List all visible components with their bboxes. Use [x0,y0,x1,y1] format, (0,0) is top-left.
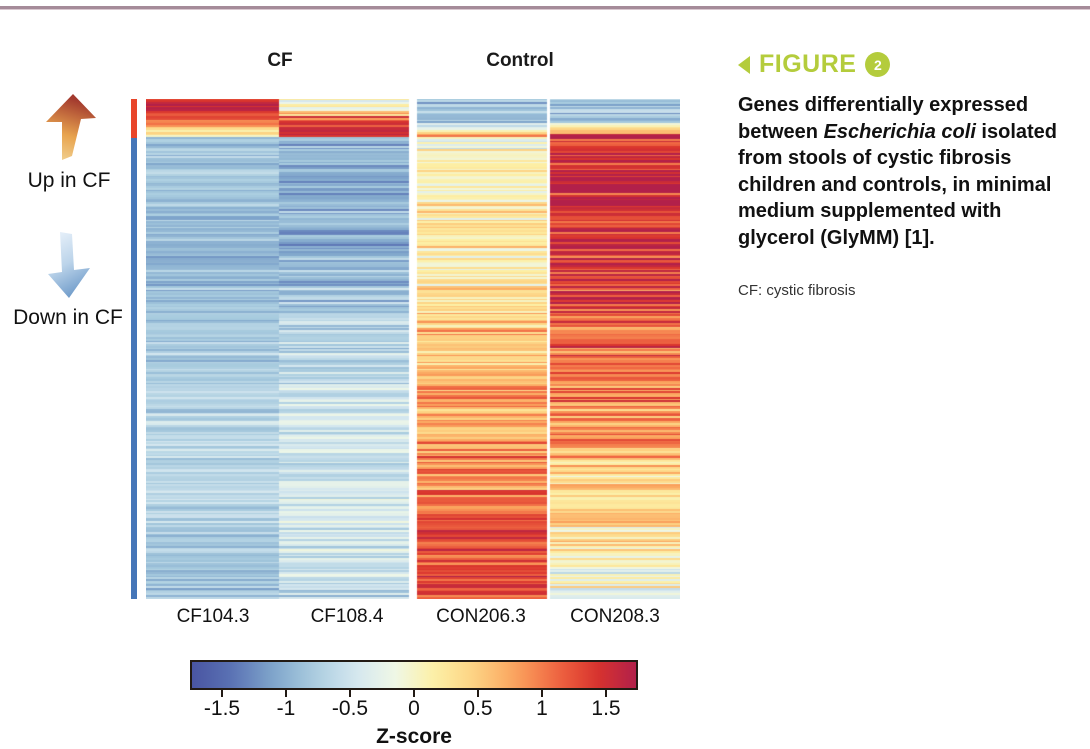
colorbar-title: Z-score [190,725,638,749]
colorbar-tick [413,690,415,697]
sample-label-con2063: CON206.3 [414,606,548,628]
colorbar-tick [541,690,543,697]
sample-label-cf1040: CF104.3 [146,606,280,628]
colorbar-tick [221,690,223,697]
figure-heading: FIGURE 2 [738,50,1068,79]
colorbar-tick-label: -1.5 [192,697,252,721]
page-top-rule-shadow [0,9,1090,10]
colorbar-tick [605,690,607,697]
sample-label-con2083: CON208.3 [548,606,682,628]
heatmap-plot [146,99,680,599]
row-annotation-segment [131,138,137,600]
row-annotation-label-down: Down in CF [2,306,134,330]
colorbar-tick-label: 0.5 [448,697,508,721]
caption-panel: FIGURE 2 Genes differentially expressed … [738,50,1068,299]
colorbar-tick-label: 1 [512,697,572,721]
colorbar-tick-label: 0 [384,697,444,721]
left-triangle-icon [738,56,750,74]
caption-title: Genes differentially expressed between E… [738,92,1068,251]
colorbar-gradient [190,660,638,690]
colorbar-legend: -1.5-1-0.500.511.5 Z-score [190,660,638,749]
row-annotation-segment [131,99,137,138]
up-arrow-icon [40,92,100,160]
colorbar-ticks [190,690,638,697]
colorbar-tick-label: -0.5 [320,697,380,721]
row-annotation-strip [131,99,137,599]
colorbar-tick [349,690,351,697]
colorbar-tick [477,690,479,697]
colorbar-tick-labels: -1.5-1-0.500.511.5 [190,697,638,723]
caption-part-1: Escherichia coli [824,121,976,143]
caption-abbreviation-note: CF: cystic fibrosis [738,282,1068,299]
row-annotation-label-up: Up in CF [8,169,130,193]
colorbar-tick-label: -1 [256,697,316,721]
colorbar-tick [285,690,287,697]
colorbar-tick-label: 1.5 [576,697,636,721]
group-header-cf: CF [215,50,345,72]
figure-number-badge: 2 [865,52,890,77]
sample-label-cf1084: CF108.4 [280,606,414,628]
figure-panel: CF Control Up in CF Down in CF CF104.3 C… [0,14,715,741]
group-header-control: Control [440,50,600,72]
figure-word: FIGURE [759,50,856,79]
down-arrow-icon [42,232,102,300]
